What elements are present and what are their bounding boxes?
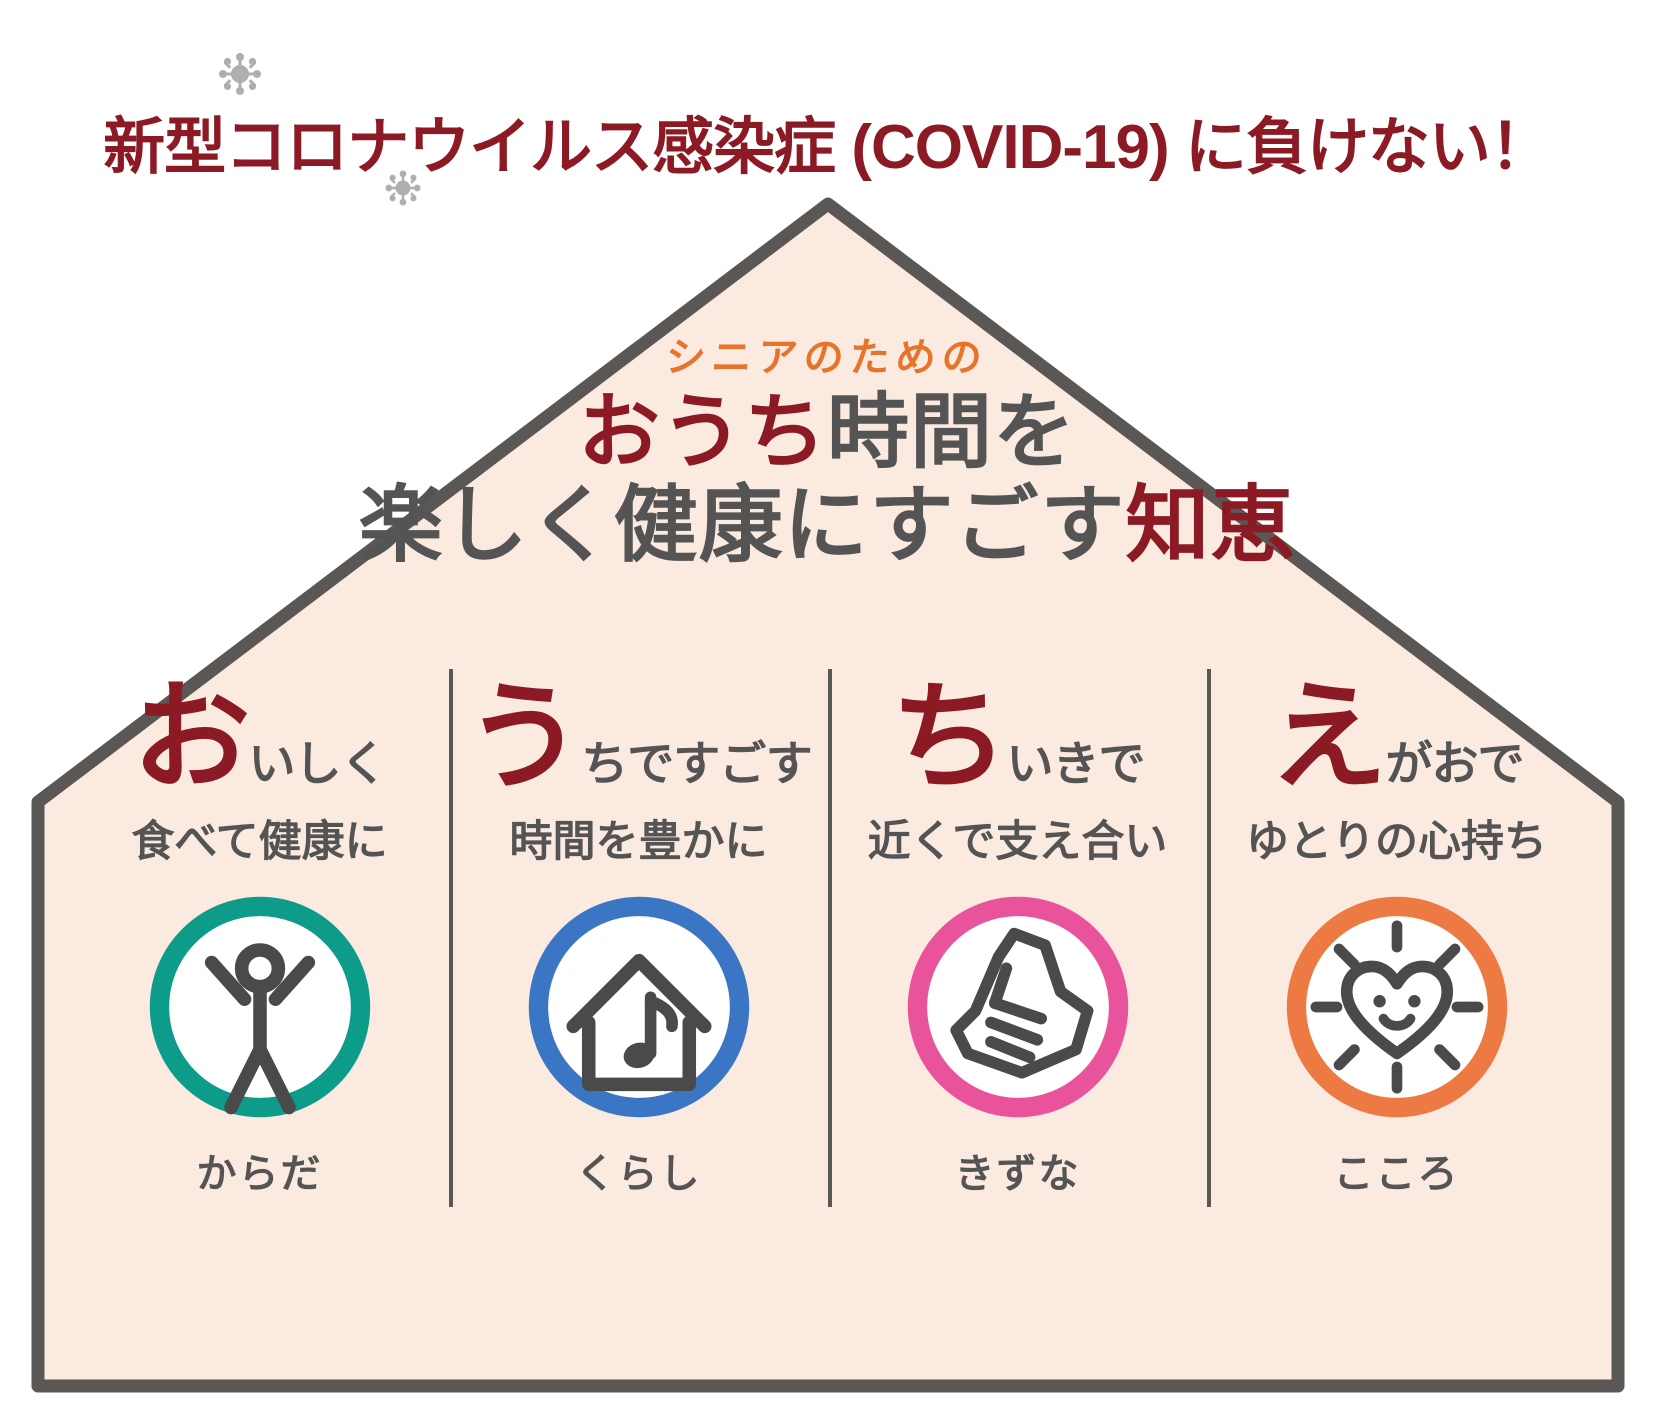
roof-heading-line-1: おうち時間を xyxy=(0,389,1654,478)
column-subtitle: 時間を豊かに xyxy=(510,807,768,869)
column-label: くらし xyxy=(576,1141,702,1199)
page-title: 新型コロナウイルス感染症 (COVID-19) に負けない！ xyxy=(0,96,1654,186)
kana-remainder: いしく xyxy=(249,740,387,793)
column-subtitle: ゆとりの心持ち xyxy=(1246,807,1547,869)
kana-initial: え xyxy=(1269,684,1385,793)
column-subtitle: 近くで支え合い xyxy=(868,807,1168,869)
column-label: きずな xyxy=(955,1141,1081,1199)
kana-row: う ちですごす xyxy=(465,665,812,793)
kana-remainder: ちですごす xyxy=(581,740,811,793)
poster-canvas: 新型コロナウイルス感染症 (COVID-19) に負けない！ シニアのための お… xyxy=(0,0,1654,1403)
house-music-note-icon xyxy=(523,891,755,1123)
kana-initial: ち xyxy=(890,684,1006,793)
smiling-heart-sun-icon xyxy=(1281,891,1513,1123)
kana-initial: お xyxy=(132,684,248,793)
column-label: からだ xyxy=(197,1141,323,1199)
roof-line2-gray: 楽しく健康にすごす xyxy=(359,478,1126,572)
advice-columns: お いしく 食べて健康に からだ う ちですごす xyxy=(70,655,1586,1225)
kana-initial: う xyxy=(465,684,581,793)
kana-remainder: いきで xyxy=(1007,740,1145,793)
virus-icon xyxy=(216,50,264,98)
column-subtitle: 食べて健康に xyxy=(131,807,387,869)
roof-line1-red: おうち xyxy=(578,387,827,478)
roof-line2-red: 知恵 xyxy=(1125,478,1295,572)
kana-row: え がおで xyxy=(1269,665,1523,793)
roof-eyebrow: シニアのための xyxy=(664,325,990,383)
person-arms-up-icon xyxy=(144,891,376,1123)
kana-row: ち いきで xyxy=(890,665,1144,793)
roof-heading-line-2: 楽しく健康にすごす知恵 xyxy=(0,480,1654,571)
advice-column-kizuna: ち いきで 近くで支え合い きずな xyxy=(828,655,1207,1225)
kana-row: お いしく xyxy=(132,665,386,793)
column-label: こころ xyxy=(1334,1141,1460,1199)
advice-column-kurashi: う ちですごす 時間を豊かに くらし xyxy=(449,655,828,1225)
advice-column-kokoro: え がおで ゆとりの心持ち xyxy=(1207,655,1586,1225)
roof-heading-block: シニアのための おうち時間を 楽しく健康にすごす知恵 xyxy=(0,325,1654,570)
roof-line1-gray: 時間を xyxy=(827,387,1076,478)
kana-remainder: がおで xyxy=(1386,740,1524,793)
clasped-hands-icon xyxy=(902,891,1134,1123)
advice-column-karada: お いしく 食べて健康に からだ xyxy=(70,655,449,1225)
